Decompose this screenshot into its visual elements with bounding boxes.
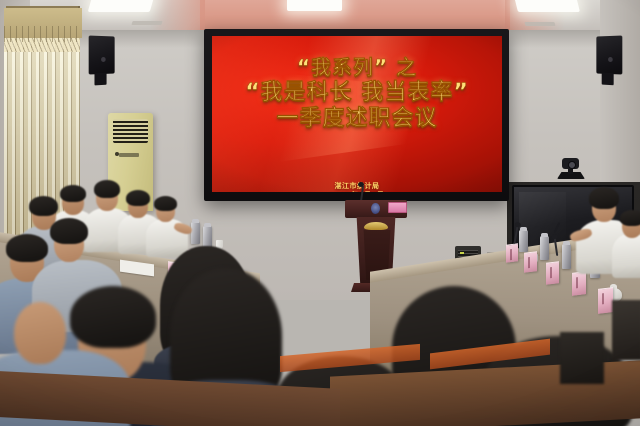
- ac-brand-label: [119, 153, 139, 157]
- name-card-tent-7: [598, 287, 613, 314]
- podium-logo-icon: [371, 203, 380, 214]
- conference-room-screenshot: “我系列” 之 “我是科长 我当表率” 一季度述职会议 湛江市统计局 2023年…: [0, 0, 640, 426]
- thermos-flask-2: [203, 226, 212, 248]
- screen-title-block: “我系列” 之 “我是科长 我当表率” 一季度述职会议: [212, 56, 502, 132]
- attendee-head-f2: [14, 302, 66, 364]
- thermos-flask-1: [191, 222, 200, 244]
- name-card-text-6: [576, 277, 578, 288]
- name-card-tent-4: [524, 251, 537, 273]
- window-valance-scallop: [4, 26, 82, 42]
- ceiling-light-left: [88, 0, 155, 12]
- camera-lens-icon: [568, 161, 576, 169]
- name-card-text-4: [528, 257, 530, 268]
- speaker-body-left: [89, 35, 115, 74]
- name-card-text-7: [602, 293, 604, 304]
- name-card-text-5: [550, 267, 552, 278]
- pink-sign-placard: [388, 202, 407, 213]
- attendee-body-r2: [612, 234, 640, 278]
- speaker-bracket-right: [602, 73, 614, 86]
- wall-speaker-left: [89, 35, 115, 74]
- attendee-hair-5: [29, 196, 58, 216]
- attendee-hair-3: [126, 190, 150, 206]
- gold-emblem-icon: [364, 222, 388, 230]
- attendee-hair-m1: [6, 234, 48, 262]
- led-screen-bezel: “我系列” 之 “我是科长 我当表率” 一季度述职会议 湛江市统计局 2023年…: [204, 29, 509, 201]
- screen-meeting-date: 2023年5月9日: [212, 191, 502, 192]
- ceiling-light-right: [514, 0, 580, 12]
- attendee-hair-r1: [589, 187, 619, 209]
- attendee-hair-2: [94, 180, 120, 198]
- speaker-body-right: [596, 35, 622, 74]
- ac-grille: [113, 119, 148, 143]
- chair-back-1: [612, 300, 640, 360]
- ceiling-light-center: [287, 0, 342, 11]
- ceiling-vent-left: [131, 21, 162, 25]
- ceiling-warm-reflection-left: [150, 0, 205, 33]
- name-card-tent-3: [506, 243, 518, 262]
- speaker-bracket-left: [95, 73, 107, 86]
- screen-title-line-3: 一季度述职会议: [212, 106, 502, 132]
- name-card-text-3: [510, 249, 512, 260]
- podium-microphone: [358, 182, 364, 187]
- screen-organization-name: 湛江市统计局: [212, 182, 502, 191]
- name-card-tent-5: [546, 261, 559, 285]
- name-card-tent-6: [572, 271, 586, 296]
- attendee-right-2: [616, 210, 640, 270]
- amplifier-led-indicator: [460, 252, 464, 254]
- attendee-hair-4: [154, 196, 177, 211]
- thermos-flask-3: [519, 230, 528, 252]
- wall-speaker-right: [596, 35, 622, 74]
- attendee-back-4: [148, 196, 184, 250]
- screen-title-line-2: “我是科长 我当表率”: [212, 80, 502, 106]
- led-presentation-screen[interactable]: “我系列” 之 “我是科长 我当表率” 一季度述职会议 湛江市统计局 2023年…: [212, 36, 502, 192]
- screen-subtitle-block: 湛江市统计局 2023年5月9日: [212, 182, 502, 192]
- thermos-flask-5: [562, 244, 571, 269]
- chair-back-2: [560, 332, 604, 384]
- ceiling-vent-right: [524, 22, 555, 26]
- thermos-flask-4: [540, 236, 549, 260]
- attendee-hair-r2: [620, 210, 640, 226]
- attendee-hair-m2: [50, 218, 88, 244]
- screen-title-line-1: “我系列” 之: [212, 56, 502, 80]
